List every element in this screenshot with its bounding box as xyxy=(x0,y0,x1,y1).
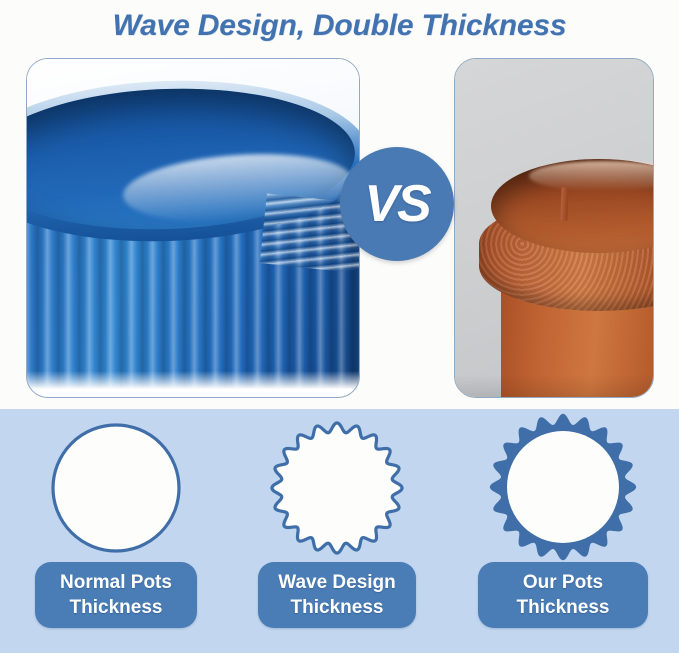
our-pots-label-line1: Our Pots xyxy=(523,570,603,595)
normal-pots-label-line2: Thickness xyxy=(70,595,163,620)
wavy-circle-thin-icon xyxy=(266,417,408,559)
blue-pot-bottom-fade xyxy=(27,371,359,397)
vs-badge-label: VS xyxy=(364,178,429,230)
wavy-circle-thick-icon xyxy=(487,411,639,563)
vs-badge: VS xyxy=(340,147,454,261)
terracotta-pot-photo xyxy=(454,58,654,398)
wave-design-label-line2: Thickness xyxy=(291,595,384,620)
blue-pot-scene xyxy=(27,59,359,397)
wave-design-label-line1: Wave Design xyxy=(278,570,396,595)
normal-pots-circle xyxy=(45,417,187,559)
comparison-panel: VS xyxy=(0,52,679,408)
blue-wave-pot-photo xyxy=(26,58,360,398)
page-title: Wave Design, Double Thickness xyxy=(113,11,567,41)
equation-panel: + = Normal Pots Thickness xyxy=(0,409,679,653)
title-bar: Wave Design, Double Thickness xyxy=(0,0,679,52)
terracotta-pot-scene xyxy=(455,59,653,397)
wave-design-label: Wave Design Thickness xyxy=(258,562,416,628)
infographic-root: Wave Design, Double Thickness xyxy=(0,0,679,653)
normal-pots-label-line1: Normal Pots xyxy=(60,570,172,595)
our-pots-circle xyxy=(487,411,639,563)
wave-design-circle xyxy=(266,417,408,559)
terracotta-pot-inner-tab xyxy=(560,187,568,221)
our-pots-label: Our Pots Thickness xyxy=(478,562,648,628)
plain-circle-icon xyxy=(45,417,187,559)
terracotta-pot-bottom-shadow xyxy=(455,375,653,397)
our-pots-label-line2: Thickness xyxy=(517,595,610,620)
normal-pots-label: Normal Pots Thickness xyxy=(35,562,197,628)
